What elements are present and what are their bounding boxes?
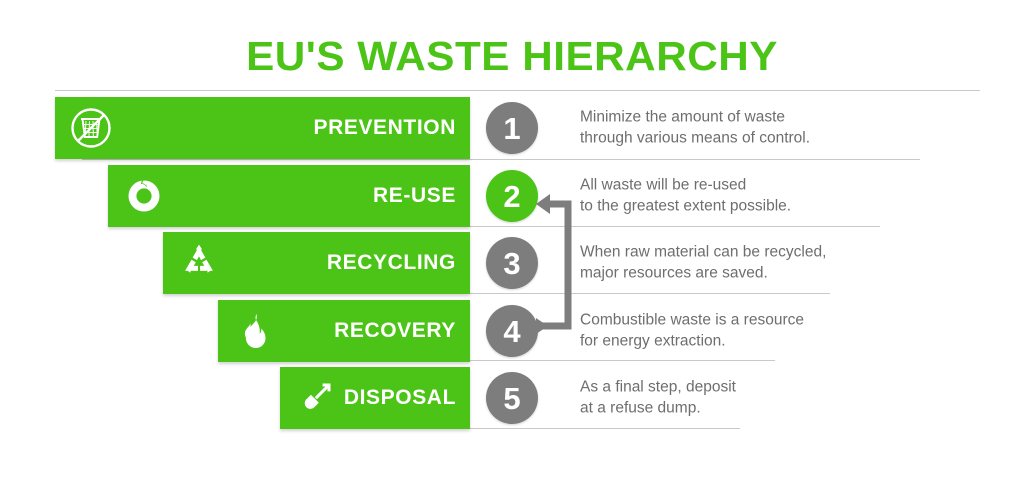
reuse-loop-icon (122, 174, 166, 218)
step-label-recycling: RECYCLING (327, 251, 456, 275)
step-badge-2: 2 (486, 170, 538, 222)
step-description-recovery: Combustible waste is a resource for ener… (580, 310, 910, 353)
step-number-4: 4 (503, 316, 520, 347)
step-badge-1: 1 (486, 102, 538, 154)
step-label-prevention: PREVENTION (313, 116, 456, 140)
step-number-3: 3 (503, 248, 520, 279)
hierarchy-row-disposal: DISPOSAL 5 As a final step, deposit at a… (0, 367, 1024, 429)
step-bar-disposal[interactable]: DISPOSAL (280, 367, 470, 429)
flame-icon (232, 309, 276, 353)
hierarchy-row-prevention: PREVENTION 1 Minimize the amount of wast… (0, 97, 1024, 159)
recycling-icon (177, 241, 221, 285)
step-description-prevention: Minimize the amount of waste through var… (580, 107, 910, 150)
step-label-disposal: DISPOSAL (344, 386, 456, 410)
step-description-recycling: When raw material can be recycled, major… (580, 242, 910, 285)
step-number-5: 5 (503, 383, 520, 414)
step-bar-recovery[interactable]: RECOVERY (218, 300, 470, 362)
step-bar-reuse[interactable]: RE-USE (108, 165, 470, 227)
step-bar-recycling[interactable]: RECYCLING (163, 232, 470, 294)
step-number-2: 2 (503, 181, 520, 212)
hierarchy-row-reuse: RE-USE 2 All waste will be re-used to th… (0, 165, 1024, 227)
step-label-reuse: RE-USE (373, 184, 456, 208)
page-title: EU'S WASTE HIERARCHY (0, 33, 1024, 80)
divider-1 (82, 159, 920, 160)
step-badge-4: 4 (486, 305, 538, 357)
step-bar-prevention[interactable]: PREVENTION (55, 97, 470, 159)
step-label-recovery: RECOVERY (334, 319, 456, 343)
no-waste-bin-icon (69, 106, 113, 150)
step-description-reuse: All waste will be re-used to the greates… (580, 175, 910, 218)
shovel-icon (294, 376, 338, 420)
divider-top (55, 90, 980, 91)
step-number-1: 1 (503, 113, 520, 144)
step-badge-3: 3 (486, 237, 538, 289)
hierarchy-row-recovery: RECOVERY 4 Combustible waste is a resour… (0, 300, 1024, 362)
waste-hierarchy-infographic: EU'S WASTE HIERARCHY (0, 0, 1024, 479)
step-badge-5: 5 (486, 372, 538, 424)
step-description-disposal: As a final step, deposit at a refuse dum… (580, 377, 910, 420)
hierarchy-row-recycling: RECYCLING 3 When raw material can be rec… (0, 232, 1024, 294)
